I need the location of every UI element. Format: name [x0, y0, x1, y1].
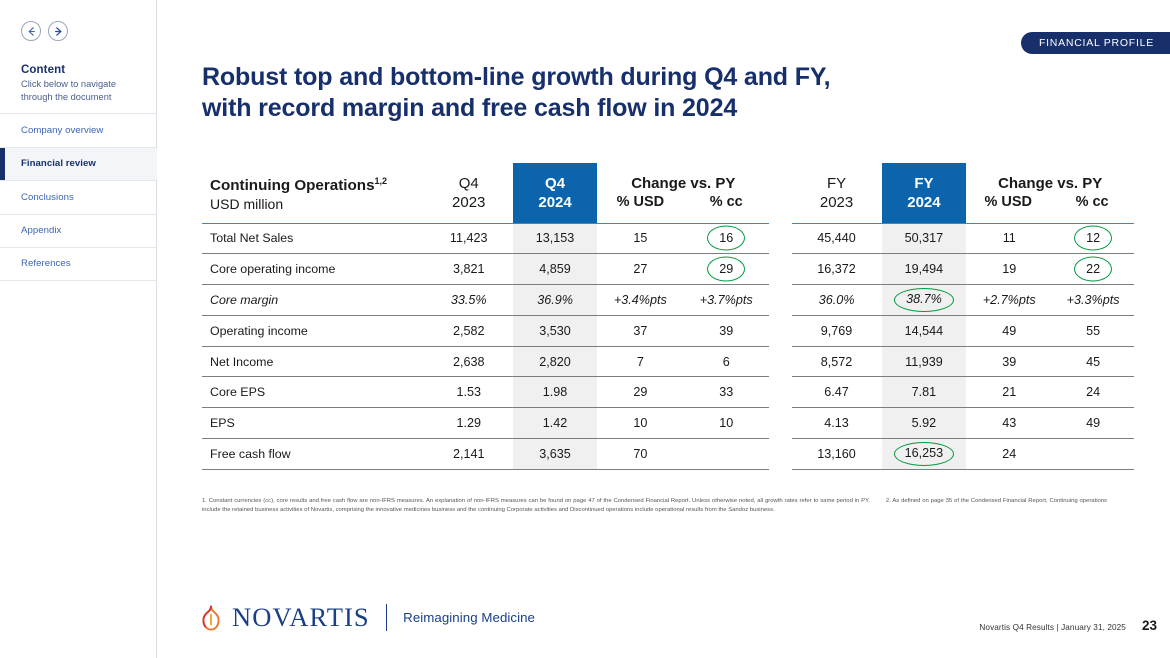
- cell-q4-2023: 2,141: [425, 439, 513, 470]
- cell-q4-change-cc: 6: [683, 346, 769, 377]
- cell-q4-2023: 2,582: [425, 315, 513, 346]
- cell-q4-change-cc: 16: [683, 223, 769, 254]
- cell-fy-2023: 36.0%: [792, 285, 882, 316]
- cell-fy-change-cc: 49: [1052, 408, 1134, 439]
- slide-content: FINANCIAL PROFILE Robust top and bottom-…: [157, 0, 1170, 658]
- table-row-gap: [769, 377, 791, 408]
- sidebar-heading: Content: [21, 64, 146, 76]
- cell-fy-2023: 45,440: [792, 223, 882, 254]
- table-row-gap: [769, 223, 791, 254]
- q4-change-title: Change vs. PY: [597, 174, 769, 193]
- cell-fy-2023: 16,372: [792, 254, 882, 285]
- table-row-gap: [769, 346, 791, 377]
- fy-change-usd-label: % USD: [966, 193, 1050, 212]
- row-label: Operating income: [202, 315, 425, 346]
- cell-fy-2024: 50,317: [882, 223, 967, 254]
- cell-fy-change-usd: 21: [966, 377, 1052, 408]
- cell-fy-2024: 11,939: [882, 346, 967, 377]
- table-row: Operating income2,5823,53037399,76914,54…: [202, 315, 1134, 346]
- cell-fy-2023: 8,572: [792, 346, 882, 377]
- footer-meta-text: Novartis Q4 Results | January 31, 2025: [979, 623, 1126, 632]
- cell-q4-2024: 3,635: [513, 439, 598, 470]
- row-label: Net Income: [202, 346, 425, 377]
- sidebar-item-label: Financial review: [21, 158, 96, 169]
- cell-q4-change-usd: 29: [597, 377, 683, 408]
- column-header-q4-2024: Q4 2024: [513, 163, 598, 223]
- cell-fy-change-cc: [1052, 439, 1134, 470]
- page-title-line2: with record margin and free cash flow in…: [202, 93, 922, 124]
- cell-q4-2024: 2,820: [513, 346, 598, 377]
- column-header-fy-2024: FY 2024: [882, 163, 967, 223]
- cell-fy-2023: 6.47: [792, 377, 882, 408]
- cell-fy-2024: 7.81: [882, 377, 967, 408]
- column-header-fy-2023: FY 2023: [792, 163, 882, 223]
- cell-q4-change-cc: +3.7%pts: [683, 285, 769, 316]
- cell-q4-change-usd: 15: [597, 223, 683, 254]
- cell-q4-2024: 4,859: [513, 254, 598, 285]
- cell-q4-2024: 36.9%: [513, 285, 598, 316]
- arrow-right-icon: [53, 26, 64, 37]
- cell-fy-2023: 9,769: [792, 315, 882, 346]
- page-number: 23: [1142, 618, 1157, 633]
- cell-fy-change-cc: 24: [1052, 377, 1134, 408]
- cell-fy-2023: 13,160: [792, 439, 882, 470]
- sidebar-nav-list: Company overview Financial review Conclu…: [0, 113, 157, 281]
- status-badge: FINANCIAL PROFILE: [1021, 32, 1170, 54]
- arrow-left-icon: [26, 26, 37, 37]
- cell-fy-2024: 14,544: [882, 315, 967, 346]
- cell-q4-2023: 3,821: [425, 254, 513, 285]
- q4-change-cc-label: % cc: [683, 193, 769, 212]
- cell-q4-2024: 13,153: [513, 223, 598, 254]
- column-header-superscript: 1,2: [375, 176, 388, 186]
- page-title: Robust top and bottom-line growth during…: [202, 62, 922, 124]
- highlight-circle: 22: [1077, 260, 1109, 279]
- sidebar-item-financial-review[interactable]: Financial review: [0, 147, 157, 181]
- column-header-fy-change: Change vs. PY % USD % cc: [966, 163, 1134, 223]
- footer-meta: Novartis Q4 Results | January 31, 2025 2…: [979, 618, 1157, 633]
- cell-q4-change-usd: +3.4%pts: [597, 285, 683, 316]
- cell-fy-2024: 38.7%: [882, 285, 967, 316]
- table-row-gap: [769, 254, 791, 285]
- cell-q4-2023: 1.53: [425, 377, 513, 408]
- cell-q4-2023: 11,423: [425, 223, 513, 254]
- cell-q4-change-cc: 10: [683, 408, 769, 439]
- sidebar-header: Content Click below to navigate through …: [21, 64, 146, 103]
- sidebar-item-label: Conclusions: [21, 192, 74, 203]
- slide-page: Content Click below to navigate through …: [0, 0, 1170, 658]
- column-header-q4-change: Change vs. PY % USD % cc: [597, 163, 769, 223]
- novartis-flame-icon: [202, 605, 220, 631]
- table-row: Free cash flow2,1413,6357013,16016,25324: [202, 439, 1134, 470]
- nav-back-button[interactable]: [21, 21, 41, 41]
- footnote-part-1: 1. Constant currencies (cc), core result…: [202, 498, 870, 504]
- cell-q4-2024: 3,530: [513, 315, 598, 346]
- row-label: EPS: [202, 408, 425, 439]
- table-body: Total Net Sales11,42313,153151645,44050,…: [202, 223, 1134, 469]
- q4-change-usd-label: % USD: [597, 193, 683, 212]
- table-header-row: Continuing Operations1,2 USD million Q4 …: [202, 163, 1134, 223]
- highlight-circle: 16: [710, 229, 742, 248]
- cell-fy-change-usd: 43: [966, 408, 1052, 439]
- novartis-wordmark: NOVARTIS: [232, 602, 370, 633]
- novartis-tagline: Reimagining Medicine: [403, 610, 535, 625]
- table-row-gap: [769, 408, 791, 439]
- sidebar-item-appendix[interactable]: Appendix: [0, 214, 157, 248]
- sidebar-item-company-overview[interactable]: Company overview: [0, 113, 157, 147]
- table-row: Net Income2,6382,820768,57211,9393945: [202, 346, 1134, 377]
- footnote: 1. Constant currencies (cc), core result…: [202, 497, 1107, 514]
- cell-q4-change-cc: 33: [683, 377, 769, 408]
- table-row-gap: [769, 285, 791, 316]
- table-row: Core operating income3,8214,859272916,37…: [202, 254, 1134, 285]
- fy-change-cc-label: % cc: [1050, 193, 1134, 212]
- cell-q4-2024: 1.98: [513, 377, 598, 408]
- nav-forward-button[interactable]: [48, 21, 68, 41]
- financial-table: Continuing Operations1,2 USD million Q4 …: [202, 163, 1134, 470]
- financial-table-element: Continuing Operations1,2 USD million Q4 …: [202, 163, 1134, 470]
- cell-fy-change-cc: 12: [1052, 223, 1134, 254]
- row-label: Free cash flow: [202, 439, 425, 470]
- highlight-circle: 38.7%: [897, 290, 951, 309]
- sidebar-item-label: Appendix: [21, 225, 61, 236]
- cell-fy-change-usd: 11: [966, 223, 1052, 254]
- highlight-circle: 16,253: [896, 444, 953, 463]
- cell-fy-2024: 16,253: [882, 439, 967, 470]
- column-header-label: Continuing Operations1,2 USD million: [202, 163, 425, 223]
- sidebar-item-references[interactable]: References: [0, 247, 157, 281]
- cell-fy-change-cc: +3.3%pts: [1052, 285, 1134, 316]
- cell-q4-change-cc: [683, 439, 769, 470]
- cell-fy-2024: 5.92: [882, 408, 967, 439]
- cell-fy-change-cc: 55: [1052, 315, 1134, 346]
- cell-q4-change-usd: 27: [597, 254, 683, 285]
- page-title-line1: Robust top and bottom-line growth during…: [202, 62, 922, 93]
- table-header: Continuing Operations1,2 USD million Q4 …: [202, 163, 1134, 223]
- column-header-label-sub: USD million: [210, 195, 425, 214]
- logo-divider: [386, 604, 387, 631]
- cell-q4-2023: 33.5%: [425, 285, 513, 316]
- cell-q4-change-usd: 10: [597, 408, 683, 439]
- cell-q4-change-usd: 37: [597, 315, 683, 346]
- cell-fy-change-cc: 22: [1052, 254, 1134, 285]
- cell-fy-2024: 19,494: [882, 254, 967, 285]
- cell-fy-change-usd: +2.7%pts: [966, 285, 1052, 316]
- active-indicator: [0, 148, 5, 181]
- table-row: Total Net Sales11,42313,153151645,44050,…: [202, 223, 1134, 254]
- cell-fy-2023: 4.13: [792, 408, 882, 439]
- highlight-circle: 12: [1077, 229, 1109, 248]
- cell-fy-change-usd: 39: [966, 346, 1052, 377]
- cell-q4-change-usd: 70: [597, 439, 683, 470]
- column-header-label-main: Continuing Operations1,2: [210, 172, 425, 195]
- sidebar-item-label: References: [21, 258, 71, 269]
- cell-fy-change-usd: 24: [966, 439, 1052, 470]
- sidebar-nav-arrows: [21, 21, 68, 41]
- row-label: Core EPS: [202, 377, 425, 408]
- cell-q4-2023: 1.29: [425, 408, 513, 439]
- cell-q4-2023: 2,638: [425, 346, 513, 377]
- sidebar-subheading: Click below to navigate through the docu…: [21, 78, 146, 103]
- novartis-logo: NOVARTIS Reimagining Medicine: [202, 602, 535, 633]
- cell-fy-change-cc: 45: [1052, 346, 1134, 377]
- sidebar: Content Click below to navigate through …: [0, 0, 157, 658]
- highlight-circle: 29: [710, 260, 742, 279]
- cell-q4-change-cc: 39: [683, 315, 769, 346]
- cell-q4-2024: 1.42: [513, 408, 598, 439]
- cell-q4-change-usd: 7: [597, 346, 683, 377]
- cell-q4-change-cc: 29: [683, 254, 769, 285]
- fy-change-title: Change vs. PY: [966, 174, 1134, 193]
- cell-fy-change-usd: 19: [966, 254, 1052, 285]
- sidebar-item-label: Company overview: [21, 125, 103, 136]
- cell-fy-change-usd: 49: [966, 315, 1052, 346]
- table-row-gap: [769, 439, 791, 470]
- row-label: Core margin: [202, 285, 425, 316]
- column-header-q4-2023: Q4 2023: [425, 163, 513, 223]
- table-row: Core margin33.5%36.9%+3.4%pts+3.7%pts36.…: [202, 285, 1134, 316]
- row-label: Total Net Sales: [202, 223, 425, 254]
- row-label: Core operating income: [202, 254, 425, 285]
- table-row: Core EPS1.531.9829336.477.812124: [202, 377, 1134, 408]
- sidebar-item-conclusions[interactable]: Conclusions: [0, 180, 157, 214]
- table-column-gap: [769, 163, 791, 223]
- table-row: EPS1.291.4210104.135.924349: [202, 408, 1134, 439]
- table-row-gap: [769, 315, 791, 346]
